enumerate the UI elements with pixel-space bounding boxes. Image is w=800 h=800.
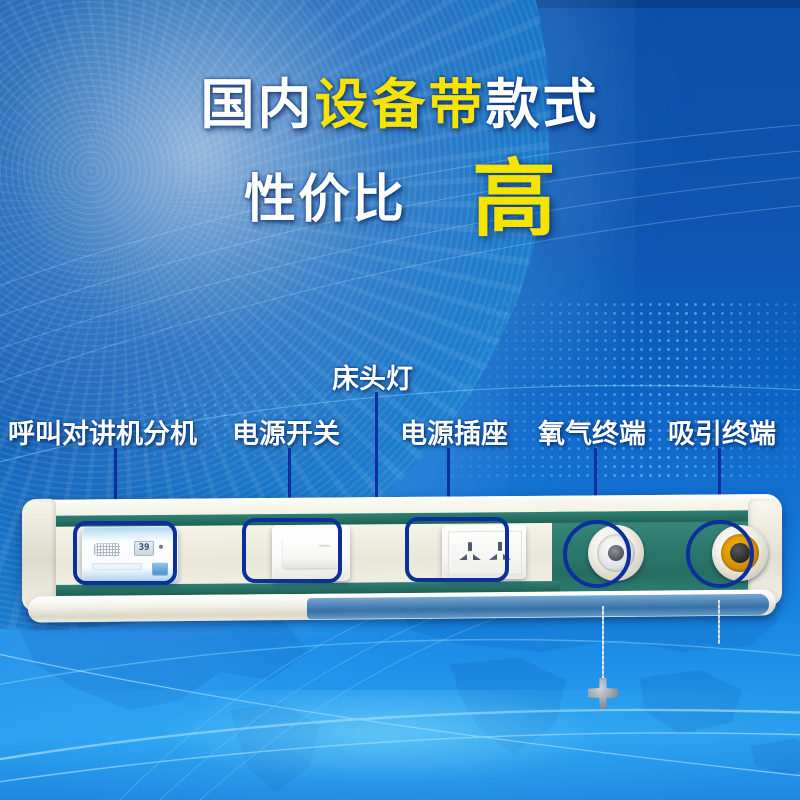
headline-prefix: 国内 — [201, 75, 315, 135]
highlight-oxygen — [563, 520, 631, 588]
pull-cord-secondary[interactable] — [718, 600, 720, 644]
highlight-socket — [405, 517, 509, 582]
headline-suffix: 款式 — [486, 75, 600, 135]
callout-label-intercom: 呼叫对讲机分机 — [8, 412, 197, 451]
highlight-switch — [242, 518, 342, 583]
bottom-glow — [0, 690, 800, 800]
halftone-dot-pattern — [430, 300, 800, 480]
headline-accent: 设备带 — [315, 75, 486, 135]
highlight-intercom — [73, 521, 177, 585]
callout-label-oxygen: 氧气终端 — [538, 412, 646, 451]
panel-blue-trough — [307, 594, 769, 619]
headline-line-1: 国内设备带款式 — [0, 78, 800, 132]
headline-emphasis: 高 — [472, 160, 556, 240]
headline-line-2: 性价比 — [244, 174, 406, 226]
callout-label-socket: 电源插座 — [400, 412, 508, 451]
highlight-suction — [686, 520, 754, 588]
callout-label-bedlamp: 床头灯 — [332, 357, 413, 396]
headline-line-2-row: 性价比 高 — [0, 160, 800, 240]
callout-label-switch: 电源开关 — [232, 412, 340, 451]
promo-banner: 国内设备带款式 性价比 高 呼叫对讲机分机电源开关床头灯电源插座氧气终端吸引终端… — [0, 0, 800, 800]
callout-label-suction: 吸引终端 — [668, 412, 776, 451]
panel-end-cap-left — [22, 499, 56, 607]
pull-cord[interactable] — [602, 606, 604, 684]
headline-block: 国内设备带款式 性价比 高 — [0, 78, 800, 240]
